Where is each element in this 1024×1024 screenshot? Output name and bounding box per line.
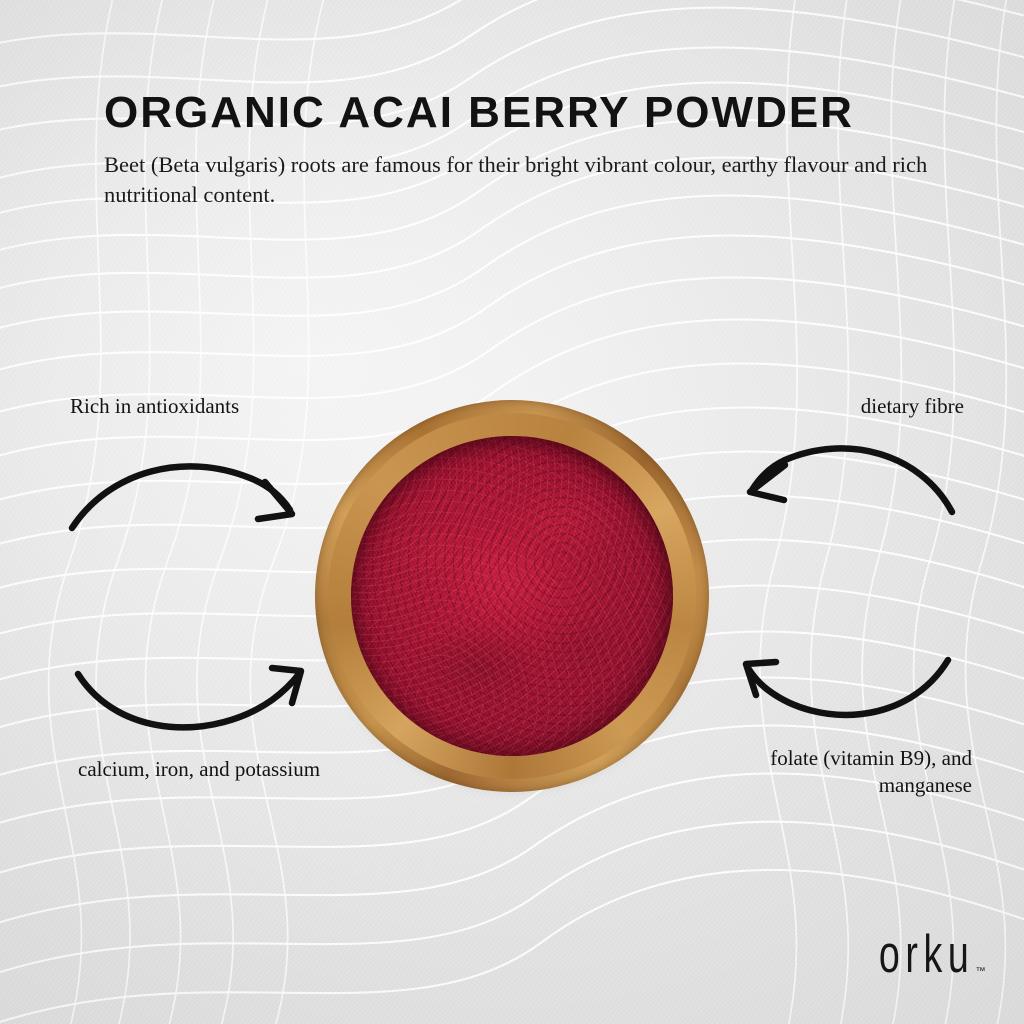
callout-label-top-right: dietary fibre — [861, 393, 964, 420]
trademark-symbol: ™ — [976, 966, 987, 977]
bowl-rim-inner-wood — [328, 413, 697, 780]
bowl-wooden-rim — [315, 400, 709, 792]
callout-label-top-left: Rich in antioxidants — [70, 393, 239, 420]
product-image-bowl-of-powder — [315, 400, 709, 792]
page-subtitle: Beet (Beta vulgaris) roots are famous fo… — [104, 150, 944, 210]
callout-label-bottom-right: folate (vitamin B9), and manganese — [692, 745, 972, 800]
brand-logo: orku ™ — [855, 933, 986, 980]
brand-wordmark: orku — [879, 927, 975, 980]
acai-powder-surface — [351, 436, 673, 757]
powder-inner-shadow — [351, 436, 673, 757]
infographic-page: ORGANIC ACAI BERRY POWDER Beet (Beta vul… — [0, 0, 1024, 1024]
callout-label-bottom-left: calcium, iron, and potassium — [78, 756, 338, 783]
page-title: ORGANIC ACAI BERRY POWDER — [104, 90, 964, 136]
